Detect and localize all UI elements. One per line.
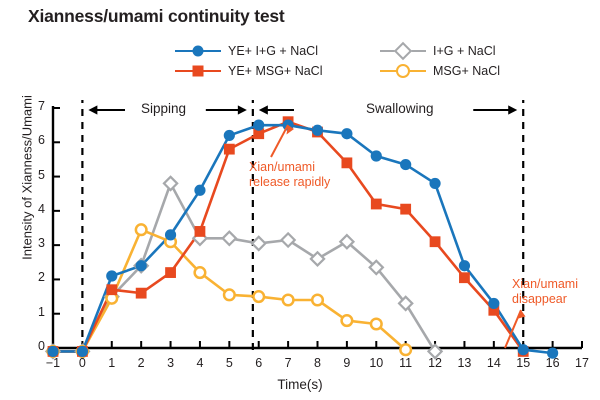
release-annotation-line2: release rapidly: [249, 175, 330, 190]
data-point-ye-msg-nacl-6: [224, 144, 235, 155]
data-point-ye-i-g-nacl-10: [341, 128, 352, 139]
x-tick-label: 0: [66, 356, 98, 370]
data-point-ye-i-g-nacl-14: [459, 260, 470, 271]
x-tick-label: 9: [331, 356, 363, 370]
data-point-i-g-nacl-9: [311, 252, 324, 265]
y-tick-label: 5: [27, 168, 45, 182]
data-point-ye-msg-nacl-10: [341, 157, 352, 168]
y-tick-label: 0: [27, 339, 45, 353]
phase-label-swallowing: Swallowing: [366, 101, 434, 116]
data-point-i-g-nacl-4: [164, 177, 177, 190]
arrow-head-right: [508, 105, 517, 114]
data-point-ye-i-g-nacl-16: [518, 344, 529, 355]
x-tick-label: 2: [125, 356, 157, 370]
data-point-msg-nacl-10: [342, 315, 353, 326]
data-point-ye-i-g-nacl-5: [194, 185, 205, 196]
data-point-msg-nacl-12: [400, 344, 411, 355]
x-tick-label: 7: [272, 356, 304, 370]
disappear-annotation-line1: Xian/umami: [512, 277, 578, 292]
x-axis-label: Time(s): [0, 377, 600, 392]
data-point-msg-nacl-9: [312, 295, 323, 306]
release-annotation: Xian/umami release rapidly: [249, 160, 330, 191]
data-point-ye-msg-nacl-11: [371, 199, 382, 210]
data-point-ye-msg-nacl-13: [430, 236, 441, 247]
plot-area: [0, 0, 600, 400]
data-point-msg-nacl-6: [224, 290, 235, 301]
arrow-head-left: [88, 105, 97, 114]
x-tick-label: 3: [155, 356, 187, 370]
data-point-ye-i-g-nacl-12: [400, 159, 411, 170]
y-tick-label: 2: [27, 270, 45, 284]
x-tick-label: 6: [243, 356, 275, 370]
data-point-ye-i-g-nacl-15: [488, 298, 499, 309]
x-tick-label: 16: [537, 356, 569, 370]
data-point-ye-msg-nacl-4: [165, 267, 176, 278]
y-tick-label: 6: [27, 133, 45, 147]
data-point-ye-i-g-nacl-9: [312, 125, 323, 136]
data-point-msg-nacl-5: [195, 267, 206, 278]
data-point-ye-i-g-nacl-11: [371, 150, 382, 161]
y-tick-label: 4: [27, 202, 45, 216]
data-point-i-g-nacl-7: [252, 237, 265, 250]
data-point-i-g-nacl-8: [282, 233, 295, 246]
x-tick-label: 12: [419, 356, 451, 370]
x-tick-label: 10: [360, 356, 392, 370]
data-point-ye-msg-nacl-5: [195, 226, 206, 237]
data-point-ye-msg-nacl-2: [106, 284, 117, 295]
x-tick-label: 4: [184, 356, 216, 370]
data-point-ye-msg-nacl-14: [459, 272, 470, 283]
data-point-msg-nacl-3: [136, 224, 147, 235]
x-tick-label: 1: [96, 356, 128, 370]
data-point-ye-i-g-nacl-13: [429, 178, 440, 189]
data-point-ye-i-g-nacl-3: [136, 260, 147, 271]
x-tick-label: 8: [302, 356, 334, 370]
data-point-msg-nacl-11: [371, 319, 382, 330]
data-point-msg-nacl-7: [253, 291, 264, 302]
data-point-msg-nacl-8: [283, 295, 294, 306]
x-tick-label: 5: [213, 356, 245, 370]
data-point-i-g-nacl-6: [223, 232, 236, 245]
arrow-head-right: [238, 105, 247, 114]
arrow-head-left: [259, 105, 268, 114]
y-tick-label: 7: [27, 99, 45, 113]
x-tick-label: −1: [37, 356, 69, 370]
phase-label-sipping: Sipping: [141, 101, 186, 116]
data-point-ye-msg-nacl-3: [136, 288, 147, 299]
y-tick-label: 3: [27, 236, 45, 250]
data-point-ye-msg-nacl-12: [400, 204, 411, 215]
data-point-ye-i-g-nacl-2: [106, 270, 117, 281]
release-annotation-line1: Xian/umami: [249, 160, 330, 175]
x-tick-label: 17: [566, 356, 598, 370]
disappear-annotation: Xian/umami disappear: [512, 277, 578, 308]
x-tick-label: 15: [507, 356, 539, 370]
x-tick-label: 13: [448, 356, 480, 370]
disappear-annotation-line2: disappear: [512, 292, 578, 307]
data-point-ye-i-g-nacl-6: [224, 130, 235, 141]
chart-container: Xianness/umami continuity test YE+ I+G +…: [0, 0, 600, 400]
data-point-ye-i-g-nacl-7: [253, 120, 264, 131]
data-point-ye-i-g-nacl-4: [165, 229, 176, 240]
x-tick-label: 11: [390, 356, 422, 370]
release-annotation-leader: [271, 125, 288, 157]
x-tick-label: 14: [478, 356, 510, 370]
y-tick-label: 1: [27, 305, 45, 319]
